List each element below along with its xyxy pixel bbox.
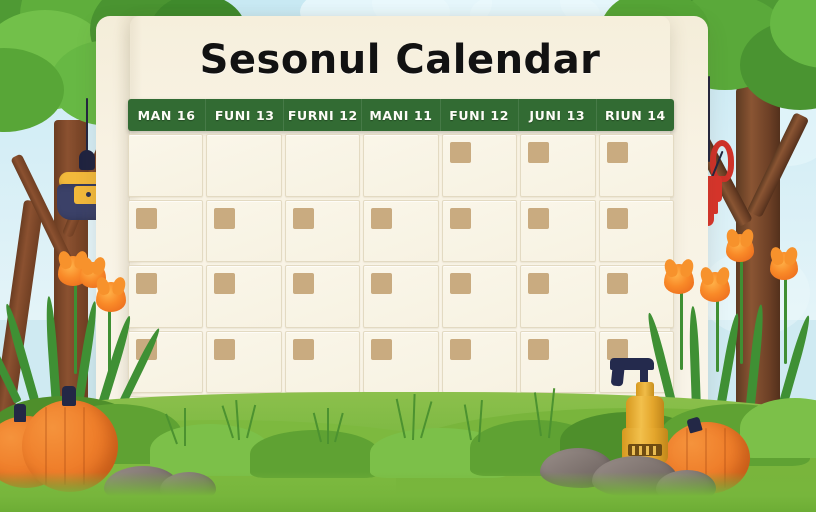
column-header-3[interactable]: FURNI 12 xyxy=(283,99,361,131)
cell-stamp xyxy=(371,339,392,360)
calendar-scene: Sesonul Calendar MAN 16 FUNI 13 FURNI 12… xyxy=(0,0,816,512)
cell-stamp xyxy=(371,273,392,294)
calendar-cell[interactable] xyxy=(128,134,203,197)
cell-stamp xyxy=(450,142,471,163)
calendar-cell[interactable] xyxy=(285,134,360,197)
calendar-cell[interactable] xyxy=(442,331,517,394)
cell-stamp xyxy=(528,208,549,229)
calendar-cell[interactable] xyxy=(128,265,203,328)
calendar-cell[interactable] xyxy=(363,331,438,394)
calendar-cell[interactable] xyxy=(285,331,360,394)
column-header-1[interactable]: MAN 16 xyxy=(128,99,205,131)
calendar-cell[interactable] xyxy=(599,265,674,328)
cell-stamp xyxy=(293,208,314,229)
calendar-cell[interactable] xyxy=(363,134,438,197)
cell-stamp xyxy=(136,208,157,229)
cell-stamp xyxy=(450,208,471,229)
calendar-cell[interactable] xyxy=(520,331,595,394)
page-title: Sesonul Calendar xyxy=(130,32,670,88)
cell-stamp xyxy=(607,273,628,294)
cell-stamp xyxy=(136,273,157,294)
cell-stamp xyxy=(293,339,314,360)
calendar-cell[interactable] xyxy=(520,134,595,197)
calendar-cell[interactable] xyxy=(206,134,281,197)
calendar-cell[interactable] xyxy=(442,265,517,328)
cell-stamp xyxy=(214,208,235,229)
calendar-cell[interactable] xyxy=(285,265,360,328)
cell-stamp xyxy=(528,339,549,360)
calendar-cell[interactable] xyxy=(363,265,438,328)
cell-stamp xyxy=(607,208,628,229)
cell-stamp xyxy=(607,142,628,163)
cell-stamp xyxy=(528,273,549,294)
calendar-cell[interactable] xyxy=(599,134,674,197)
calendar-cell[interactable] xyxy=(206,265,281,328)
cell-stamp xyxy=(214,339,235,360)
calendar-cell[interactable] xyxy=(520,200,595,263)
calendar-cell[interactable] xyxy=(363,200,438,263)
column-header-7[interactable]: RIUN 14 xyxy=(596,99,674,131)
calendar-cell[interactable] xyxy=(442,134,517,197)
column-header-4[interactable]: MANI 11 xyxy=(361,99,439,131)
calendar-cell[interactable] xyxy=(285,200,360,263)
calendar-cell[interactable] xyxy=(599,200,674,263)
foreground-grass xyxy=(0,472,816,512)
column-header-5[interactable]: FUNI 12 xyxy=(440,99,518,131)
calendar-cell[interactable] xyxy=(520,265,595,328)
column-header-2[interactable]: FUNI 13 xyxy=(205,99,283,131)
cell-stamp xyxy=(214,273,235,294)
calendar-cell[interactable] xyxy=(442,200,517,263)
calendar-cell[interactable] xyxy=(206,200,281,263)
column-header-6[interactable]: JUNI 13 xyxy=(518,99,596,131)
calendar-header-row: MAN 16 FUNI 13 FURNI 12 MANI 11 FUNI 12 … xyxy=(128,99,674,131)
calendar-cell[interactable] xyxy=(206,331,281,394)
cell-stamp xyxy=(450,339,471,360)
cell-stamp xyxy=(450,273,471,294)
calendar-cell[interactable] xyxy=(128,200,203,263)
cell-stamp xyxy=(293,273,314,294)
cell-stamp xyxy=(528,142,549,163)
cell-stamp xyxy=(371,208,392,229)
cell-stamp xyxy=(607,339,628,360)
